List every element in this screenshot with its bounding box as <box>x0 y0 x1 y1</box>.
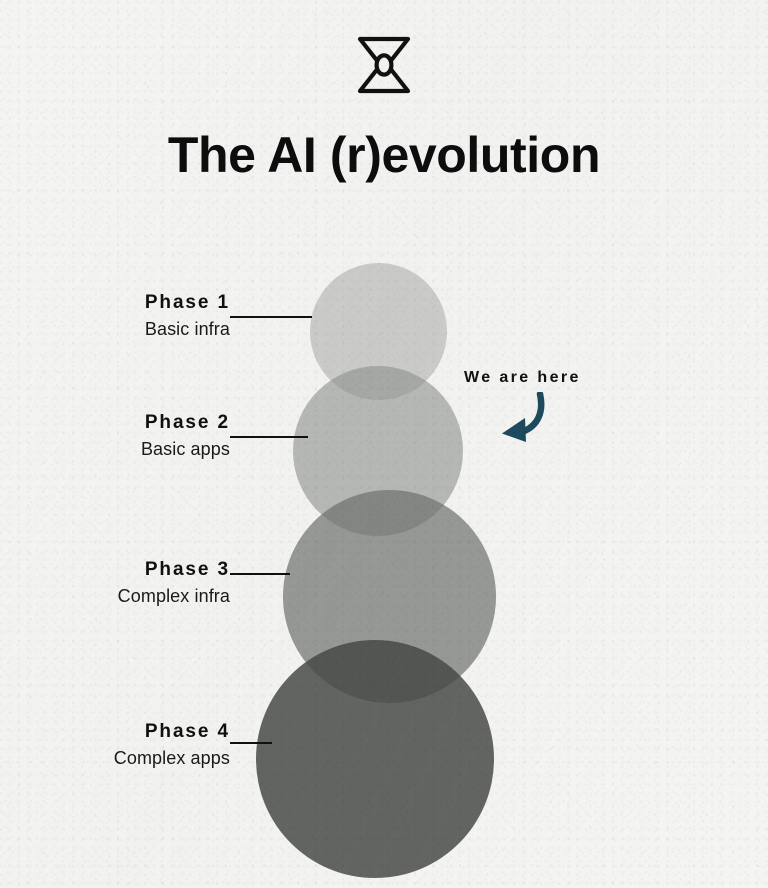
phase-connector-3 <box>230 573 290 575</box>
phase-label-4: Phase 4 Complex apps <box>0 720 230 771</box>
phase-label-1: Phase 1 Basic infra <box>0 291 230 342</box>
phase-connector-2 <box>230 436 308 438</box>
phase-connector-1 <box>230 316 312 318</box>
phase-subtitle: Basic infra <box>0 318 230 341</box>
phase-connector-4 <box>230 742 272 744</box>
hourglass-icon <box>352 34 416 96</box>
phase-title: Phase 4 <box>0 720 230 743</box>
phase-title: Phase 1 <box>0 291 230 314</box>
hourglass-logo <box>352 34 416 96</box>
arrow-down-left-icon <box>478 392 546 444</box>
phase-circle-2 <box>293 366 463 536</box>
phase-subtitle: Complex apps <box>0 747 230 770</box>
phase-label-2: Phase 2 Basic apps <box>0 411 230 462</box>
phase-subtitle: Complex infra <box>0 585 230 608</box>
phase-subtitle: Basic apps <box>0 438 230 461</box>
phase-circle-3 <box>283 490 496 703</box>
poster-canvas: The AI (r)evolution Phase 1 Basic infra … <box>0 0 768 888</box>
phase-title: Phase 3 <box>0 558 230 581</box>
phase-label-3: Phase 3 Complex infra <box>0 558 230 609</box>
phase-circle-1 <box>310 263 447 400</box>
we-are-here-label: We are here <box>464 369 581 387</box>
curved-arrow-icon <box>478 392 546 444</box>
phase-circle-4 <box>256 640 494 878</box>
page-title: The AI (r)evolution <box>0 126 768 184</box>
phase-title: Phase 2 <box>0 411 230 434</box>
